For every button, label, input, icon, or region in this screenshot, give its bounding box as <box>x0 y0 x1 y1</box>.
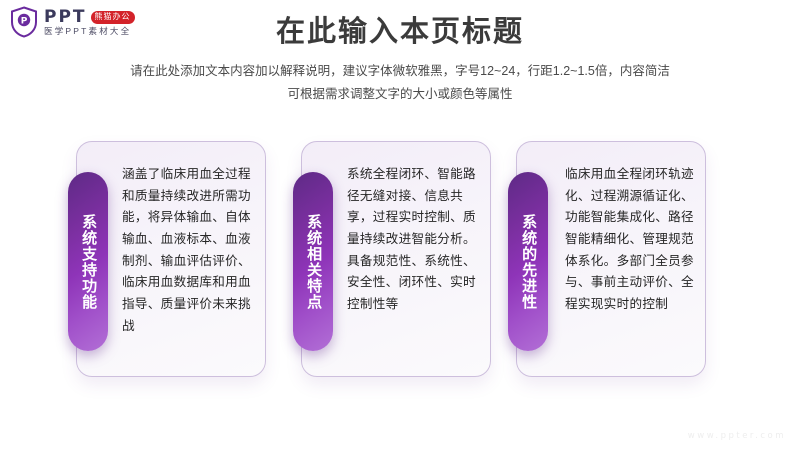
page-title: 在此输入本页标题 <box>0 14 800 52</box>
subtitle-line-2: 可根据需求调整文字的大小或颜色等属性 <box>0 83 800 106</box>
card-body-text: 临床用血全程闭环轨迹化、过程溯源循证化、功能智能集成化、路径智能精细化、管理规范… <box>565 164 699 316</box>
page-subtitle: 请在此处添加文本内容加以解释说明，建议字体微软雅黑，字号12~24，行距1.2~… <box>0 60 800 106</box>
card-group: 涵盖了临床用血全过程和质量持续改进所需功能，将异体输血、自体输血、血液标本、血液… <box>0 141 800 381</box>
site-watermark: www.ppter.com <box>688 431 786 441</box>
card-label-text: 系统相关特点 <box>304 214 322 310</box>
card-label-text: 系统的先进性 <box>519 214 537 310</box>
card-label-pill: 系统相关特点 <box>293 172 333 351</box>
card-body-text: 系统全程闭环、智能路径无缝对接、信息共享，过程实时控制、质量持续改进智能分析。具… <box>347 164 480 316</box>
card-label-pill: 系统的先进性 <box>508 172 548 351</box>
subtitle-line-1: 请在此处添加文本内容加以解释说明，建议字体微软雅黑，字号12~24，行距1.2~… <box>0 60 800 83</box>
card-body-text: 涵盖了临床用血全过程和质量持续改进所需功能，将异体输血、自体输血、血液标本、血液… <box>122 164 255 337</box>
card-label-pill: 系统支持功能 <box>68 172 108 351</box>
card-label-text: 系统支持功能 <box>79 214 97 310</box>
